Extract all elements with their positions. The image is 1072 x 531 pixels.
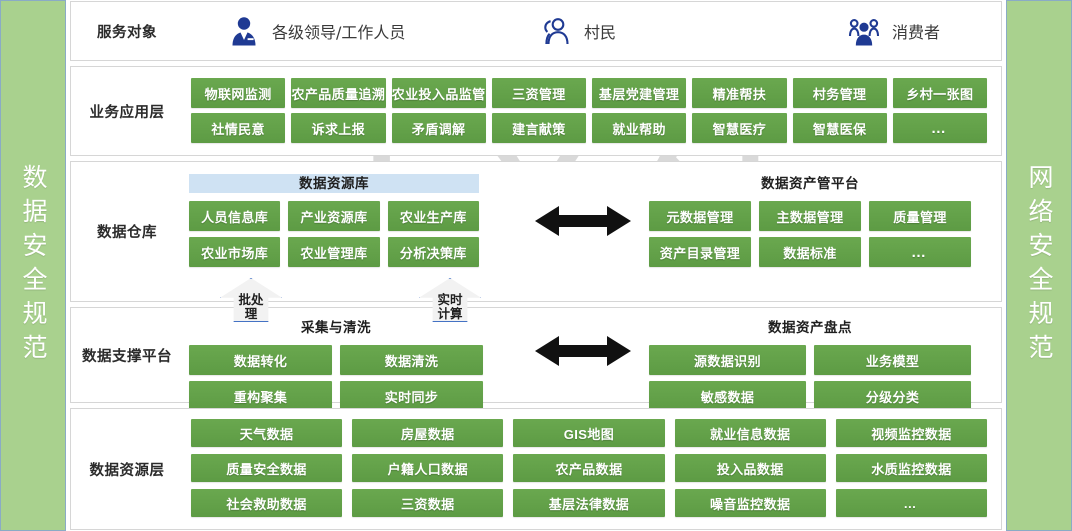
consumer-family-icon	[847, 16, 881, 46]
group-title-resource-repository: 数据资源库	[189, 174, 479, 193]
dw-chip[interactable]: 质量管理	[869, 201, 971, 231]
bidirectional-arrow-support	[535, 334, 631, 368]
src-chip[interactable]: 社会救助数据	[191, 489, 342, 517]
data-asset-management-platform-group: 数据资产管平台 元数据管理 主数据管理 质量管理 资产目录管理 数据标准 …	[649, 174, 971, 267]
src-chip[interactable]: 农产品数据	[513, 454, 664, 482]
band-label-support: 数据支撑平台	[71, 345, 183, 366]
service-item-consumers[interactable]: 消费者	[823, 16, 940, 46]
band-label-warehouse: 数据仓库	[71, 221, 183, 242]
support-band-body: 采集与清洗 数据转化 数据清洗 重构聚集 实时同步 数据资产盘点	[183, 308, 1001, 402]
app-chip-more[interactable]: …	[893, 113, 987, 143]
src-chip[interactable]: 天气数据	[191, 419, 342, 447]
support-wrap: 采集与清洗 数据转化 数据清洗 重构聚集 实时同步 数据资产盘点	[183, 308, 1001, 402]
dw-chip[interactable]: 农业市场库	[189, 237, 280, 267]
group-title-asset-platform: 数据资产管平台	[649, 174, 971, 193]
data-resource-repository-group: 数据资源库 人员信息库 产业资源库 农业生产库 农业市场库 农业管理库 分析决策…	[189, 174, 479, 267]
service-label-villagers: 村民	[584, 19, 616, 43]
src-chip[interactable]: 就业信息数据	[675, 419, 826, 447]
data-source-band: 数据资源层 天气数据 房屋数据 GIS地图 就业信息数据 视频监控数据 质量安全…	[70, 408, 1002, 530]
src-chip[interactable]: 基层法律数据	[513, 489, 664, 517]
application-band-body: 物联网监测 农产品质量追溯 农业投入品监管 三资管理 基层党建管理 精准帮扶 村…	[183, 67, 1001, 155]
dw-chip[interactable]: 元数据管理	[649, 201, 751, 231]
dw-chip[interactable]: 主数据管理	[759, 201, 861, 231]
asset-inventory-grid: 源数据识别 业务模型 敏感数据 分级分类	[649, 345, 971, 411]
data-security-rail-label: 数据安全规范	[15, 164, 51, 368]
business-application-band: 业务应用层 物联网监测 农产品质量追溯 农业投入品监管 三资管理 基层党建管理 …	[70, 66, 1002, 156]
dw-chip[interactable]: 资产目录管理	[649, 237, 751, 267]
band-label-application: 业务应用层	[71, 101, 183, 122]
dsp-chip[interactable]: 业务模型	[814, 345, 971, 375]
service-audience-band: 服务对象 各级领导/工作人员	[70, 1, 1002, 61]
resource-repository-grid: 人员信息库 产业资源库 农业生产库 农业市场库 农业管理库 分析决策库	[189, 201, 479, 267]
service-label-consumers: 消费者	[892, 19, 940, 43]
app-chip[interactable]: 基层党建管理	[592, 78, 686, 108]
group-title-asset-inventory: 数据资产盘点	[649, 318, 971, 337]
data-warehouse-band: 数据仓库 数据资源库 人员信息库 产业资源库 农业生产库 农业市场库 农业管理库…	[70, 161, 1002, 302]
data-security-rail: 数据安全规范	[0, 0, 66, 531]
dsp-chip[interactable]: 敏感数据	[649, 381, 806, 411]
warehouse-band-body: 数据资源库 人员信息库 产业资源库 农业生产库 农业市场库 农业管理库 分析决策…	[183, 162, 1001, 301]
dw-chip-more[interactable]: …	[869, 237, 971, 267]
data-support-platform-band: 数据支撑平台 采集与清洗 数据转化 数据清洗 重构聚集 实时同步	[70, 307, 1002, 403]
app-chip[interactable]: 农产品质量追溯	[291, 78, 385, 108]
dsp-chip[interactable]: 重构聚集	[189, 381, 332, 411]
src-chip[interactable]: 水质监控数据	[836, 454, 987, 482]
application-grid: 物联网监测 农产品质量追溯 农业投入品监管 三资管理 基层党建管理 精准帮扶 村…	[183, 67, 1001, 155]
source-grid: 天气数据 房屋数据 GIS地图 就业信息数据 视频监控数据 质量安全数据 户籍人…	[183, 409, 1001, 529]
app-chip[interactable]: 矛盾调解	[392, 113, 486, 143]
source-band-body: 天气数据 房屋数据 GIS地图 就业信息数据 视频监控数据 质量安全数据 户籍人…	[183, 409, 1001, 529]
dsp-chip[interactable]: 分级分类	[814, 381, 971, 411]
dsp-chip[interactable]: 源数据识别	[649, 345, 806, 375]
collection-cleaning-group: 采集与清洗 数据转化 数据清洗 重构聚集 实时同步	[189, 318, 483, 411]
collection-cleaning-grid: 数据转化 数据清洗 重构聚集 实时同步	[189, 345, 483, 411]
src-chip[interactable]: 投入品数据	[675, 454, 826, 482]
app-chip[interactable]: 社情民意	[191, 113, 285, 143]
layer-stack: 服务对象 各级领导/工作人员	[70, 0, 1002, 531]
dw-chip[interactable]: 农业生产库	[388, 201, 479, 231]
service-band-body: 各级领导/工作人员 村民	[183, 2, 1001, 60]
band-label-source: 数据资源层	[71, 459, 183, 480]
src-chip[interactable]: GIS地图	[513, 419, 664, 447]
app-chip[interactable]: 物联网监测	[191, 78, 285, 108]
network-security-rail-label: 网络安全规范	[1021, 164, 1057, 368]
dsp-chip[interactable]: 数据清洗	[340, 345, 483, 375]
src-chip[interactable]: 三资数据	[352, 489, 503, 517]
app-chip[interactable]: 乡村一张图	[893, 78, 987, 108]
src-chip[interactable]: 房屋数据	[352, 419, 503, 447]
leader-person-icon	[227, 16, 261, 46]
app-chip[interactable]: 精准帮扶	[692, 78, 786, 108]
src-chip[interactable]: 质量安全数据	[191, 454, 342, 482]
app-chip[interactable]: 村务管理	[793, 78, 887, 108]
app-chip[interactable]: 诉求上报	[291, 113, 385, 143]
dsp-chip[interactable]: 实时同步	[340, 381, 483, 411]
network-security-rail: 网络安全规范	[1006, 0, 1072, 531]
group-title-collection-cleaning: 采集与清洗	[189, 318, 483, 337]
app-chip[interactable]: 智慧医疗	[692, 113, 786, 143]
dw-chip[interactable]: 农业管理库	[288, 237, 379, 267]
service-item-villagers[interactable]: 村民	[523, 16, 823, 46]
src-chip-more[interactable]: …	[836, 489, 987, 517]
asset-platform-grid: 元数据管理 主数据管理 质量管理 资产目录管理 数据标准 …	[649, 201, 971, 267]
app-chip[interactable]: 就业帮助	[592, 113, 686, 143]
dw-chip[interactable]: 人员信息库	[189, 201, 280, 231]
dsp-chip[interactable]: 数据转化	[189, 345, 332, 375]
app-chip[interactable]: 农业投入品监管	[392, 78, 486, 108]
dw-chip[interactable]: 产业资源库	[288, 201, 379, 231]
service-audience-row: 各级领导/工作人员 村民	[183, 2, 1001, 60]
architecture-diagram: 中美创 MEICHUANG 数据安全规范 网络安全规范 服务对象	[0, 0, 1072, 531]
service-item-leaders[interactable]: 各级领导/工作人员	[193, 16, 523, 46]
src-chip[interactable]: 户籍人口数据	[352, 454, 503, 482]
app-chip[interactable]: 智慧医保	[793, 113, 887, 143]
src-chip[interactable]: 噪音监控数据	[675, 489, 826, 517]
app-chip[interactable]: 三资管理	[492, 78, 586, 108]
bidirectional-arrow-warehouse	[535, 204, 631, 238]
src-chip[interactable]: 视频监控数据	[836, 419, 987, 447]
villagers-group-icon	[539, 16, 573, 46]
service-label-leaders: 各级领导/工作人员	[272, 19, 405, 43]
app-chip[interactable]: 建言献策	[492, 113, 586, 143]
dw-chip[interactable]: 分析决策库	[388, 237, 479, 267]
band-label-service: 服务对象	[71, 21, 183, 42]
dw-chip[interactable]: 数据标准	[759, 237, 861, 267]
data-asset-inventory-group: 数据资产盘点 源数据识别 业务模型 敏感数据 分级分类	[649, 318, 971, 411]
warehouse-wrap: 数据资源库 人员信息库 产业资源库 农业生产库 农业市场库 农业管理库 分析决策…	[183, 162, 1001, 301]
